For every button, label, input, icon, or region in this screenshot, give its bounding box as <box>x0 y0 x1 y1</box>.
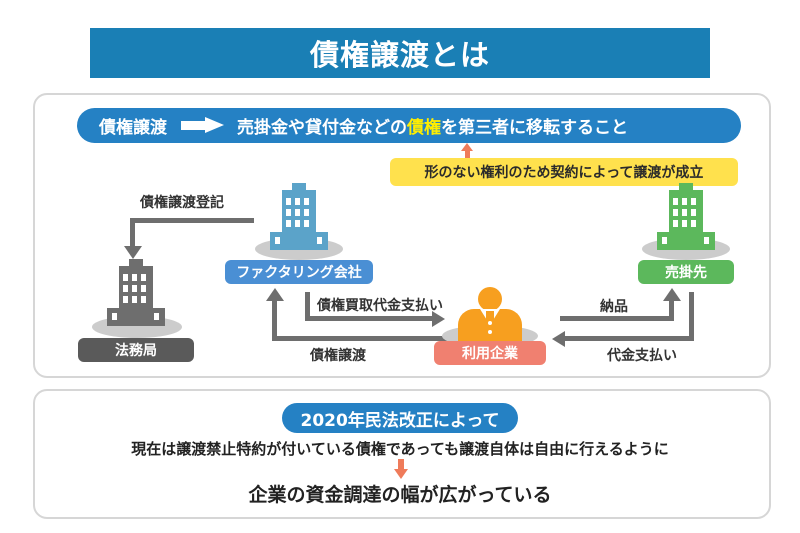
building-icon <box>657 190 715 250</box>
note-callout: 形のない権利のため契約によって譲渡が成立 <box>390 158 738 186</box>
node-label-factoring: ファクタリング会社 <box>225 260 373 284</box>
node-label-client: 利用企業 <box>434 341 546 365</box>
conclusion-pill: 2020年民法改正によって <box>282 403 518 433</box>
note-text: 形のない権利のため契約によって譲渡が成立 <box>425 162 704 182</box>
flow-label-delivery: 納品 <box>600 296 628 316</box>
flow-label-registration: 債権譲渡登記 <box>140 192 224 212</box>
flow-arrowhead-delivery <box>663 288 681 301</box>
flow-line-delivery-v <box>669 299 674 321</box>
title-banner: 債権譲渡とは <box>90 28 710 78</box>
flow-arrowhead-registration <box>124 246 142 259</box>
flow-arrowhead-assignment <box>266 288 284 301</box>
node-factoring: ファクタリング会社 <box>225 190 373 284</box>
down-arrow-icon <box>394 459 408 479</box>
page-title: 債権譲渡とは <box>310 32 490 74</box>
node-label-houmukyoku: 法務局 <box>78 338 194 362</box>
fat-right-arrow-icon <box>181 117 225 134</box>
definition-highlight: 債権 <box>407 118 441 138</box>
building-icon <box>270 190 328 250</box>
flow-line-payment-h <box>563 336 694 341</box>
flow-line-delivery-h <box>560 316 674 321</box>
node-houmukyoku: 法務局 <box>78 266 194 362</box>
conclusion-line-1: 現在は譲渡禁止特約が付いている債権であっても譲渡自体は自由に行えるように <box>0 438 800 459</box>
flow-label-purchase-price: 債権買取代金支払い <box>317 295 443 315</box>
infographic-canvas: 債権譲渡とは 債権譲渡 売掛金や貸付金などの債権を第三者に移転すること 形のない… <box>0 0 800 533</box>
flow-line-payment-v <box>689 292 694 341</box>
flow-line-registration-v <box>130 218 135 248</box>
flow-label-assignment: 債権譲渡 <box>310 345 366 365</box>
flow-line-assignment-h <box>272 336 448 341</box>
node-urikakesaki: 売掛先 <box>634 190 738 284</box>
conclusion-line-2: 企業の資金調達の幅が広がっている <box>0 480 800 507</box>
flow-line-assignment-v <box>272 299 277 341</box>
node-label-urikakesaki: 売掛先 <box>638 260 734 284</box>
flow-line-purchase-h <box>305 316 434 321</box>
definition-text: 売掛金や貸付金などの債権を第三者に移転すること <box>237 113 628 138</box>
definition-text-after: を第三者に移転すること <box>441 118 628 138</box>
flow-arrowhead-payment <box>552 331 565 347</box>
flow-label-payment: 代金支払い <box>607 345 677 365</box>
node-client: 利用企業 <box>434 287 546 365</box>
definition-term: 債権譲渡 <box>99 113 167 138</box>
definition-text-before: 売掛金や貸付金などの <box>237 118 407 138</box>
conclusion-pill-label: 2020年民法改正によって <box>301 406 500 431</box>
building-icon <box>107 266 165 326</box>
definition-banner: 債権譲渡 売掛金や貸付金などの債権を第三者に移転すること <box>77 108 741 143</box>
businessperson-icon <box>458 287 522 347</box>
